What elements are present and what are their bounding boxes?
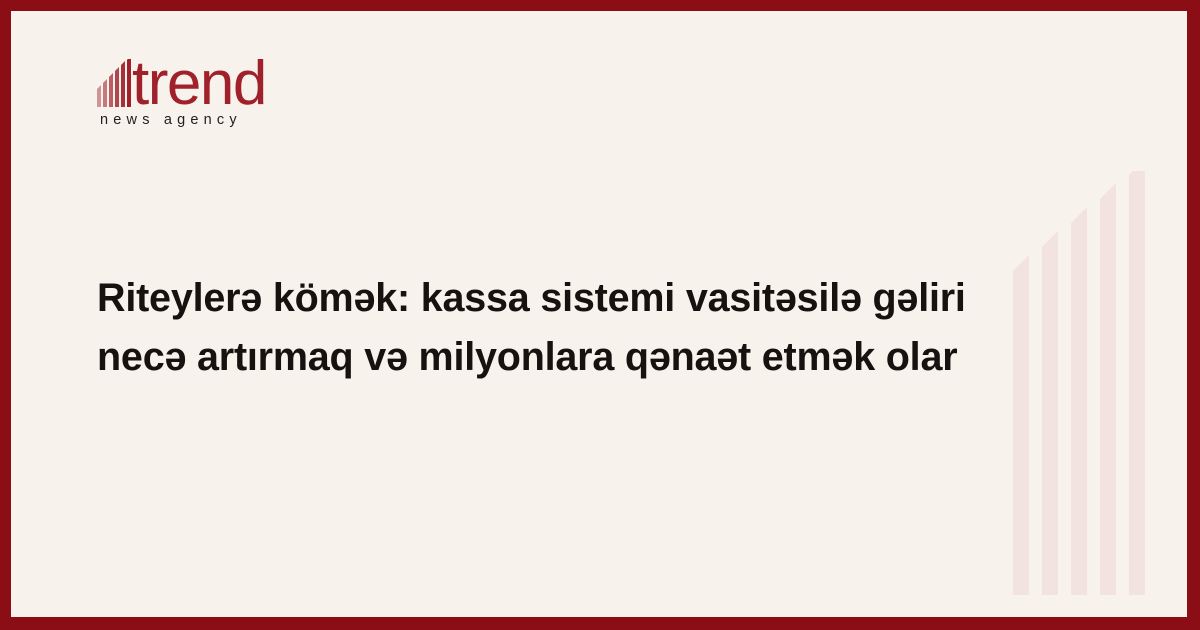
- logo-wordmark-row: trend: [97, 48, 287, 110]
- brand-logo[interactable]: trend news agency: [97, 48, 287, 128]
- article-share-card: trend news agency Riteylerə kömək: kassa…: [0, 0, 1200, 630]
- card-canvas: trend news agency Riteylerə kömək: kassa…: [11, 11, 1187, 617]
- article-headline: Riteylerə kömək: kassa sistemi vasitəsil…: [97, 269, 1052, 387]
- ascending-bars-icon: [97, 59, 131, 107]
- logo-wordmark-text: trend: [132, 57, 266, 110]
